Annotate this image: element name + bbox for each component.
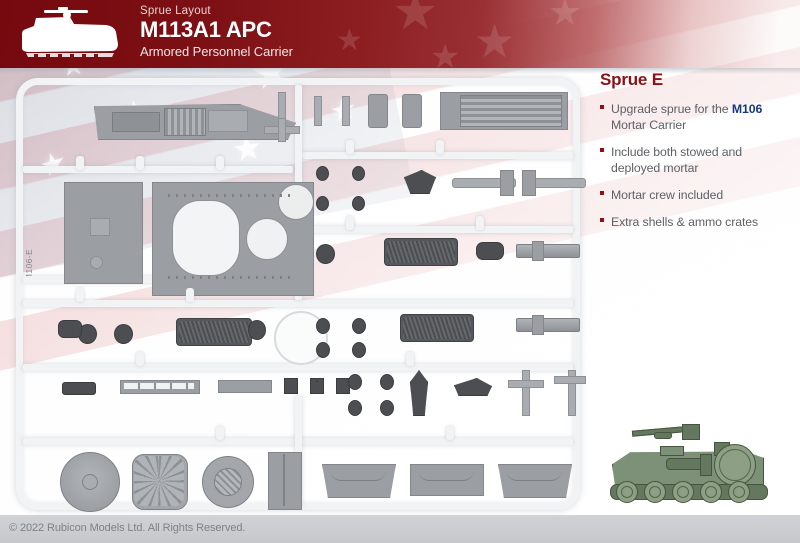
m113-tank-silhouette-icon [14, 4, 132, 64]
part-hand [58, 320, 82, 338]
part-hull-roof-hatch [208, 110, 248, 132]
page-subtitle: Armored Personnel Carrier [140, 44, 293, 59]
page-header: ★ ★ ★ ★ ★ Sprue Layout M113A [0, 0, 800, 68]
part-ammo-box-split [283, 454, 285, 506]
part-ammo-crate-strap [418, 470, 474, 481]
part-crew-figure-prone [176, 318, 252, 346]
part-helmet [316, 244, 335, 264]
part-ammo-crate-strap [330, 470, 386, 481]
page-title: M113A1 APC [140, 18, 293, 42]
sprue-title: Sprue E [600, 70, 792, 90]
list-item: Mortar crew included [600, 187, 792, 203]
part-shell-head [380, 374, 394, 390]
item-text-after: Mortar Carrier [611, 118, 686, 132]
part-box-small [368, 94, 388, 128]
list-item: Include both stowed and deployed mortar [600, 144, 792, 176]
part-mortar-tube [516, 318, 580, 332]
part-side-panel-detail [90, 218, 110, 236]
list-item: Upgrade sprue for the M106 Mortar Carrie… [600, 101, 792, 133]
part-arm [476, 242, 504, 260]
part-shell-head [380, 400, 394, 416]
part-ammo-box [268, 452, 302, 510]
sprue-feature-list: Upgrade sprue for the M106 Mortar Carrie… [600, 101, 792, 231]
part-shell-head [352, 342, 366, 358]
list-item: Extra shells & ammo crates [600, 214, 792, 230]
part-hull-roof-detail [112, 112, 160, 132]
part-crew-figure-prone [400, 314, 474, 342]
part-shell-head [316, 342, 330, 358]
part-shell-head [352, 318, 366, 334]
part-hull-plate-turret-ring [278, 184, 314, 220]
part-baseplate-mesh-inner [214, 468, 242, 496]
part-rail-short [218, 380, 272, 393]
part-shell-head [316, 380, 318, 382]
part-tripod-arm [554, 376, 586, 384]
part-shell-head [348, 400, 362, 416]
sprue-frame-diagram: M106-E [16, 78, 580, 510]
part-helmet [248, 320, 266, 340]
part-shell-head [316, 166, 329, 181]
part-mortar-tube-collar [532, 241, 544, 261]
part-side-panel-boss [90, 256, 103, 269]
part-helmet [114, 324, 133, 344]
item-accent: M106 [732, 102, 762, 116]
part-bipod-foot [522, 170, 536, 196]
part-crew-figure-prone [384, 238, 458, 266]
part-clip [284, 378, 298, 394]
part-shell-head [352, 196, 365, 211]
sprue-layout-page: ★ ★ ★ ★ ★ ★ ★ ★ ★ ★ ★ ★ [0, 0, 800, 543]
part-cross-brace-vertical [278, 118, 286, 142]
part-hull-plate-rivets [168, 194, 292, 197]
part-baseplate-round-hub [82, 474, 98, 490]
part-tripod-arm [508, 380, 544, 388]
part-baseplate-spokes [134, 456, 184, 506]
part-shell-head [352, 166, 365, 181]
item-text-before: Mortar crew included [611, 188, 723, 202]
part-mortar-tube-collar [532, 315, 544, 335]
page-footer: © 2022 Rubicon Models Ltd. All Rights Re… [0, 515, 800, 543]
part-hull-roof-slats [164, 108, 206, 136]
part-pin-small [342, 96, 350, 126]
part-louvre-slats [460, 95, 562, 127]
part-tripod [522, 370, 530, 416]
item-text-before: Upgrade sprue for the [611, 102, 732, 116]
part-rail-long-slots [124, 383, 194, 389]
sprue-info-panel: Sprue E Upgrade sprue for the M106 Morta… [600, 70, 792, 242]
m106-mortar-carrier-illustration [602, 420, 782, 508]
part-bipod-foot [500, 170, 514, 196]
part-hull-plate-opening-small [246, 218, 288, 260]
part-hull-plate-rivets [168, 276, 292, 279]
part-box-small [402, 94, 422, 128]
part-hull-plate-opening-large [172, 200, 240, 276]
item-text-before: Extra shells & ammo crates [611, 215, 758, 229]
copyright-text: © 2022 Rubicon Models Ltd. All Rights Re… [9, 522, 245, 534]
header-kicker: Sprue Layout [140, 5, 293, 17]
part-ammo-crate-strap [506, 470, 562, 481]
part-shell-head [316, 196, 329, 211]
part-pin-small [314, 96, 322, 126]
part-mortar-tube [516, 244, 580, 258]
item-text-before: Include both stowed and deployed mortar [611, 145, 742, 175]
part-shell-head [316, 318, 330, 334]
part-shell-head [348, 374, 362, 390]
part-small-fitting [62, 382, 96, 395]
